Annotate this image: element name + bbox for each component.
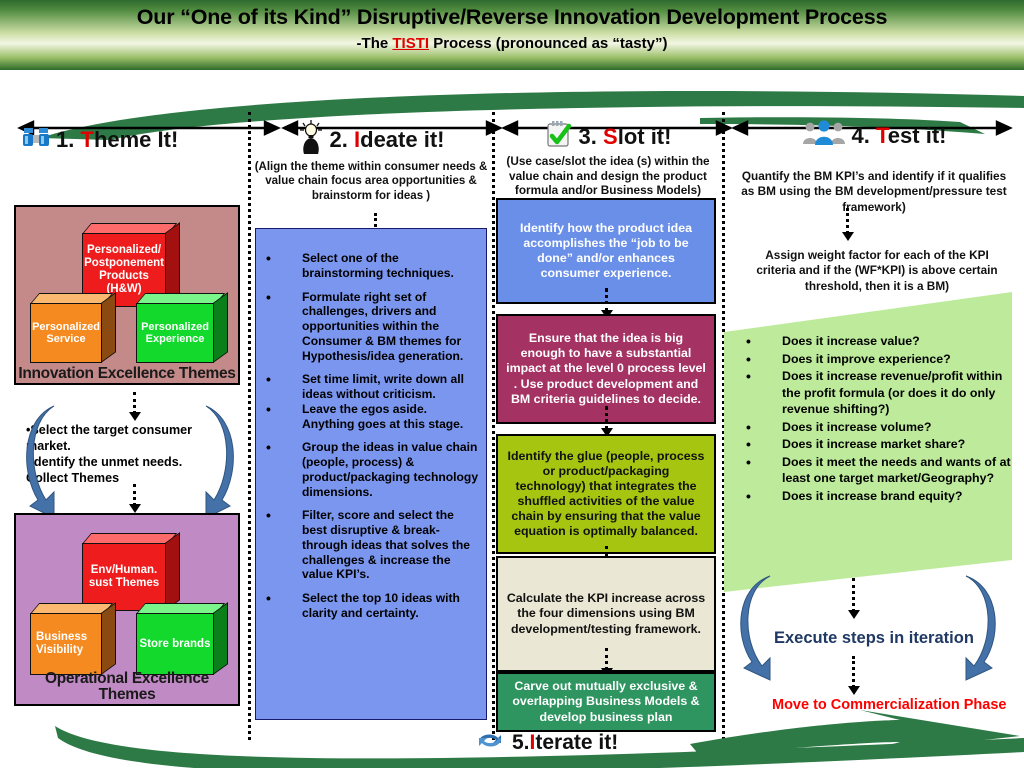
step-3-title-highlight: S xyxy=(603,124,618,149)
slot-panel-1-text: Identify how the product idea accomplish… xyxy=(506,221,706,282)
step-4-subtitle-2: Assign weight factor for each of the KPI… xyxy=(736,248,1018,294)
move-to-commercialization-label: Move to Commercialization Phase xyxy=(772,697,1006,713)
flow-arrow-test-3 xyxy=(852,656,854,688)
slot-panel-4-text: Calculate the KPI increase across the fo… xyxy=(506,591,706,636)
subtitle-prefix: -The xyxy=(357,35,393,52)
cube-business-visibility: Business Visibility xyxy=(30,603,116,675)
list-item: Does it improve experience? xyxy=(724,351,1020,368)
step-4-subtitle: Quantify the BM KPI’s and identify if it… xyxy=(724,169,1024,215)
ideate-bullets-panel: Select one of the brainstorming techniqu… xyxy=(255,228,487,720)
people-group-icon xyxy=(802,120,846,151)
list-item: Set time limit, write down all ideas wit… xyxy=(258,372,480,402)
list-item: Does it increase revenue/profit within t… xyxy=(724,368,1020,418)
flow-arrow-test-2 xyxy=(852,578,854,612)
test-question-list: Does it increase value? Does it improve … xyxy=(724,333,1020,505)
recycle-arrows-icon xyxy=(476,730,504,755)
list-item: Select the top 10 ideas with clarity and… xyxy=(258,591,480,621)
step-1-title: 1. Theme It! xyxy=(56,127,178,153)
checklist-clipboard-icon xyxy=(545,120,573,153)
step-3-number: 3. xyxy=(579,124,597,149)
flow-arrow-theme-2 xyxy=(133,484,135,506)
flow-arrow-slot-2 xyxy=(605,406,607,430)
list-item: Formulate right set of challenges, drive… xyxy=(258,290,480,364)
step-4-header: 4. Test it! xyxy=(724,120,1024,151)
loop-arrow-left-test xyxy=(736,572,776,687)
step-4-number: 4. xyxy=(852,123,870,148)
flow-arrow-theme-1 xyxy=(133,392,135,414)
step-4-title: 4. Test it! xyxy=(852,123,947,149)
cube-store-brands: Store brands xyxy=(136,603,228,675)
slide-canvas: Our “One of its Kind” Disruptive/Reverse… xyxy=(0,0,1024,768)
subtitle-suffix: Process (pronounced as “tasty”) xyxy=(429,35,667,52)
list-item: Does it increase value? xyxy=(724,333,1020,350)
list-item: Does it meet the needs and wants of at l… xyxy=(724,454,1020,487)
binoculars-icon xyxy=(22,126,50,153)
step-2-title: 2. Ideate it! xyxy=(330,127,445,153)
theme-box-operational-excellence: Env/Human. sust Themes Business Visibili… xyxy=(14,513,240,706)
step-3-title: 3. Slot it! xyxy=(579,124,672,150)
list-item: Select one of the brainstorming techniqu… xyxy=(258,251,480,281)
list-item: Does it increase market share? xyxy=(724,436,1020,453)
step-5-label: 5.Iterate it! xyxy=(512,731,618,755)
list-item: Does it increase brand equity? xyxy=(724,488,1020,505)
cube-label: Store brands xyxy=(136,613,214,675)
cube-label: Env/Human. sust Themes xyxy=(82,543,166,611)
page-subtitle: -The TISTI Process (pronounced as “tasty… xyxy=(0,35,1024,52)
theme-box-innovation-excellence: Personalized/ Postponement Products (H&W… xyxy=(14,205,240,385)
cube-label: Personalized Experience xyxy=(136,303,214,363)
cube-label: Personalized Service xyxy=(30,303,102,363)
flow-arrow-slot-1 xyxy=(605,288,607,312)
theme-box-caption: Innovation Excellence Themes xyxy=(16,366,238,382)
list-item: Leave the egos aside. Anything goes at t… xyxy=(258,402,480,432)
step-5-number: 5. xyxy=(512,731,530,754)
step-3-subtitle: (Use case/slot the idea (s) within the v… xyxy=(494,154,722,198)
step-3-title-rest: lot it! xyxy=(618,124,672,149)
list-item: Does it increase volume? xyxy=(724,419,1020,436)
column-test-it: 4. Test it! Quantify the BM KPI’s and id… xyxy=(724,112,1024,215)
step-4-title-highlight: T xyxy=(876,123,888,148)
flow-arrow-test-1 xyxy=(846,208,848,234)
list-item: Filter, score and select the best disrup… xyxy=(258,508,480,582)
flow-arrow-slot-4 xyxy=(605,648,607,670)
step-5-iterate: 5.Iterate it! xyxy=(476,730,618,755)
cube-env-human-sust: Env/Human. sust Themes xyxy=(82,533,180,611)
column-separator-2 xyxy=(492,112,495,740)
slot-panel-5: Carve out mutually exclusive & overlappi… xyxy=(496,672,716,732)
step-2-title-rest: deate it! xyxy=(360,127,444,152)
step-1-number: 1. xyxy=(56,127,74,152)
execute-steps-label: Execute steps in iteration xyxy=(774,629,974,648)
loop-arrow-left-theme xyxy=(24,400,60,525)
cube-personalized-experience: Personalized Experience xyxy=(136,293,228,363)
step-2-header: 2. Ideate it! xyxy=(250,120,492,159)
step-1-title-rest: heme It! xyxy=(94,127,178,152)
list-item: Group the ideas in value chain (people, … xyxy=(258,440,480,499)
column-theme-it: 1. Theme It! xyxy=(0,112,248,153)
step-4-title-rest: est it! xyxy=(888,123,947,148)
step-3-header: 3. Slot it! xyxy=(494,120,722,153)
column-separator-1 xyxy=(248,112,251,740)
tisti-acronym: TISTI xyxy=(392,35,429,52)
slot-panel-5-text: Carve out mutually exclusive & overlappi… xyxy=(506,679,706,724)
step-2-subtitle: (Align the theme within consumer needs &… xyxy=(250,160,492,203)
slot-panel-3-text: Identify the glue (people, process or pr… xyxy=(506,449,706,540)
column-slot-it: 3. Slot it! (Use case/slot the idea (s) … xyxy=(494,112,722,198)
lightbulb-person-icon xyxy=(298,120,324,159)
ideate-bullet-list: Select one of the brainstorming techniqu… xyxy=(258,251,480,621)
theme-box-caption: Operational Excellence Themes xyxy=(16,671,238,702)
cube-personalized-service: Personalized Service xyxy=(30,293,116,363)
slot-panel-3: Identify the glue (people, process or pr… xyxy=(496,434,716,554)
step-1-title-highlight: T xyxy=(80,127,93,152)
cube-label: Business Visibility xyxy=(30,613,102,675)
loop-arrow-right-theme xyxy=(200,400,236,525)
page-title: Our “One of its Kind” Disruptive/Reverse… xyxy=(0,0,1024,30)
slide-header: Our “One of its Kind” Disruptive/Reverse… xyxy=(0,0,1024,70)
step-2-number: 2. xyxy=(330,127,348,152)
step-1-header: 1. Theme It! xyxy=(0,126,248,153)
slot-panel-2-text: Ensure that the idea is big enough to ha… xyxy=(506,331,706,407)
column-ideate-it: 2. Ideate it! (Align the theme within co… xyxy=(250,112,492,203)
step-5-title-rest: terate it! xyxy=(535,731,618,754)
